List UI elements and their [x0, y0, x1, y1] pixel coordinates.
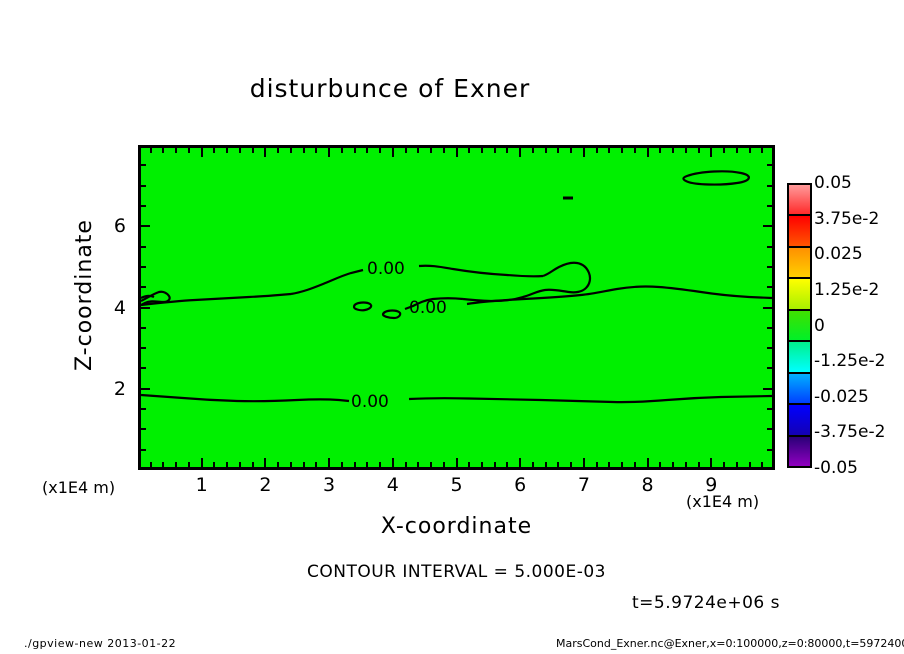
x-tick-minor-top [277, 148, 279, 153]
colorbar-tick-label: 0.05 [814, 173, 852, 193]
y-tick-major [141, 225, 150, 227]
x-tick-label: 4 [387, 474, 399, 496]
y-tick-minor [141, 347, 146, 349]
x-tick-minor-top [621, 148, 623, 153]
x-tick-minor-top [354, 148, 356, 153]
x-tick-minor-top [494, 148, 496, 153]
y-tick-minor-right [767, 266, 772, 268]
x-tick-minor-top [162, 148, 164, 153]
x-tick-label: 5 [450, 474, 462, 496]
x-tick-minor [162, 462, 164, 467]
x-tick-minor [736, 462, 738, 467]
x-tick-minor-top [290, 148, 292, 153]
x-tick-minor [290, 462, 292, 467]
x-tick-minor-top [596, 148, 598, 153]
x-tick-minor-top [379, 148, 381, 153]
x-tick-minor [188, 462, 190, 467]
x-tick-minor [443, 462, 445, 467]
colorbar-band [789, 279, 810, 310]
x-tick-minor [723, 462, 725, 467]
x-tick-minor [341, 462, 343, 467]
y-tick-major-right [763, 388, 772, 390]
x-tick-minor-top [150, 148, 152, 153]
x-tick-minor-top [226, 148, 228, 153]
colorbar-band [789, 311, 810, 342]
x-tick-major-top [710, 148, 712, 157]
x-tick-minor [417, 462, 419, 467]
x-tick-minor-top [698, 148, 700, 153]
x-tick-minor-top [685, 148, 687, 153]
x-tick-major [583, 458, 585, 467]
contour-plot-area: 0.00 0.00 0.00 [138, 145, 775, 470]
contour-label-0-lower: 0.00 [351, 392, 389, 412]
x-tick-minor-top [761, 148, 763, 153]
x-tick-minor-top [188, 148, 190, 153]
y-tick-label: 2 [114, 378, 126, 400]
x-tick-minor [608, 462, 610, 467]
y-tick-minor-right [767, 347, 772, 349]
x-tick-minor-top [252, 148, 254, 153]
x-axis-unit-left: (x1E4 m) [42, 478, 115, 497]
x-tick-minor-top [672, 148, 674, 153]
colorbar-band [789, 374, 810, 405]
footer-source-label: MarsCond_Exner.nc@Exner,x=0:100000,z=0:8… [556, 637, 904, 650]
colorbar-band [789, 342, 810, 373]
x-tick-minor [366, 462, 368, 467]
x-tick-minor [621, 462, 623, 467]
x-tick-minor [277, 462, 279, 467]
x-tick-minor-top [736, 148, 738, 153]
y-tick-minor-right [767, 408, 772, 410]
y-tick-minor [141, 246, 146, 248]
x-tick-minor-top [481, 148, 483, 153]
x-tick-minor [596, 462, 598, 467]
x-tick-label: 2 [259, 474, 271, 496]
colorbar-band [789, 216, 810, 247]
x-tick-minor-top [175, 148, 177, 153]
x-tick-major-top [519, 148, 521, 157]
x-tick-label: 8 [642, 474, 654, 496]
y-tick-minor [141, 449, 146, 451]
x-tick-minor [532, 462, 534, 467]
x-tick-minor-top [532, 148, 534, 153]
y-tick-minor-right [767, 428, 772, 430]
x-axis-unit-right: (x1E4 m) [686, 492, 759, 511]
x-tick-minor [506, 462, 508, 467]
x-tick-minor-top [659, 148, 661, 153]
x-tick-minor [315, 462, 317, 467]
y-tick-minor [141, 185, 146, 187]
x-tick-major [392, 458, 394, 467]
y-tick-minor-right [767, 185, 772, 187]
y-axis-title: Z-coordinate [72, 200, 102, 390]
x-tick-major-top [583, 148, 585, 157]
x-tick-minor [468, 462, 470, 467]
y-tick-major-right [763, 225, 772, 227]
y-tick-major-right [763, 307, 772, 309]
x-tick-minor-top [315, 148, 317, 153]
colorbar-tick-labels: 0.053.75e-20.0251.25e-20-1.25e-2-0.025-3… [814, 176, 904, 476]
x-tick-major-top [456, 148, 458, 157]
footer-command-label: ./gpview-new 2013-01-22 [24, 637, 176, 650]
x-tick-minor-top [570, 148, 572, 153]
colorbar-band [789, 185, 810, 216]
y-tick-minor [141, 286, 146, 288]
x-tick-minor [749, 462, 751, 467]
page-title: disturbunce of Exner [0, 74, 780, 103]
x-axis-title: X-coordinate [138, 514, 775, 539]
y-tick-minor [141, 164, 146, 166]
x-tick-label: 7 [578, 474, 590, 496]
x-tick-minor-top [366, 148, 368, 153]
x-tick-major [264, 458, 266, 467]
x-tick-minor [239, 462, 241, 467]
y-tick-minor [141, 327, 146, 329]
x-tick-minor [303, 462, 305, 467]
colorbar-tick-label: -1.25e-2 [814, 351, 885, 371]
x-tick-minor [379, 462, 381, 467]
x-tick-minor [570, 462, 572, 467]
x-tick-minor [557, 462, 559, 467]
x-tick-major-top [264, 148, 266, 157]
y-tick-major [141, 388, 150, 390]
contour-label-0-upper-left: 0.00 [367, 259, 405, 279]
x-tick-minor [659, 462, 661, 467]
y-tick-minor [141, 428, 146, 430]
x-tick-minor-top [468, 148, 470, 153]
x-tick-minor [672, 462, 674, 467]
x-tick-major-top [201, 148, 203, 157]
y-tick-minor-right [767, 327, 772, 329]
x-tick-minor [226, 462, 228, 467]
y-tick-major [141, 307, 150, 309]
x-tick-minor-top [417, 148, 419, 153]
colorbar-tick-label: 3.75e-2 [814, 209, 879, 229]
x-tick-minor [761, 462, 763, 467]
x-tick-minor [175, 462, 177, 467]
x-tick-label: 6 [514, 474, 526, 496]
x-tick-minor-top [608, 148, 610, 153]
x-tick-major [519, 458, 521, 467]
x-tick-major [710, 458, 712, 467]
x-tick-minor-top [557, 148, 559, 153]
x-tick-minor-top [430, 148, 432, 153]
colorbar-tick-label: -3.75e-2 [814, 422, 885, 442]
x-tick-minor [698, 462, 700, 467]
contour-lines: 0.00 0.00 0.00 [141, 148, 772, 467]
x-tick-minor [213, 462, 215, 467]
y-tick-minor [141, 367, 146, 369]
y-tick-minor [141, 266, 146, 268]
colorbar-tick-label: -0.05 [814, 458, 858, 478]
x-tick-minor [150, 462, 152, 467]
x-tick-minor [545, 462, 547, 467]
x-tick-minor-top [545, 148, 547, 153]
x-tick-minor-top [303, 148, 305, 153]
contour-fill-region [141, 148, 772, 467]
colorbar-tick-label: 0 [814, 316, 825, 336]
x-tick-minor-top [213, 148, 215, 153]
colorbar-tick-label: 1.25e-2 [814, 280, 879, 300]
x-tick-major [328, 458, 330, 467]
x-tick-minor [494, 462, 496, 467]
x-tick-major-top [328, 148, 330, 157]
contour-interval-label: CONTOUR INTERVAL = 5.000E-03 [138, 562, 775, 582]
y-tick-minor-right [767, 246, 772, 248]
colorbar-tick-label: 0.025 [814, 244, 863, 264]
x-tick-minor-top [405, 148, 407, 153]
x-tick-label: 1 [196, 474, 208, 496]
colorbar [787, 183, 812, 468]
x-tick-major-top [647, 148, 649, 157]
y-tick-minor-right [767, 367, 772, 369]
x-tick-minor-top [239, 148, 241, 153]
x-tick-minor [481, 462, 483, 467]
y-tick-minor [141, 408, 146, 410]
x-tick-minor-top [749, 148, 751, 153]
x-tick-minor [634, 462, 636, 467]
x-tick-major [201, 458, 203, 467]
colorbar-band [789, 248, 810, 279]
x-tick-minor-top [723, 148, 725, 153]
y-tick-minor-right [767, 449, 772, 451]
y-tick-minor-right [767, 164, 772, 166]
y-tick-minor-right [767, 205, 772, 207]
x-tick-minor [354, 462, 356, 467]
colorbar-tick-label: -0.025 [814, 387, 869, 407]
x-tick-minor [252, 462, 254, 467]
y-tick-label: 6 [114, 215, 126, 237]
x-tick-minor-top [341, 148, 343, 153]
x-tick-minor-top [443, 148, 445, 153]
x-tick-minor-top [506, 148, 508, 153]
x-tick-minor-top [634, 148, 636, 153]
y-tick-minor [141, 205, 146, 207]
x-tick-major-top [392, 148, 394, 157]
x-tick-minor [405, 462, 407, 467]
x-tick-major [456, 458, 458, 467]
contour-label-0-upper-right: 0.00 [409, 298, 447, 318]
y-tick-minor-right [767, 286, 772, 288]
x-tick-label: 3 [323, 474, 335, 496]
x-tick-major [647, 458, 649, 467]
x-tick-minor [685, 462, 687, 467]
time-annotation: t=5.9724e+06 s [632, 593, 780, 613]
colorbar-band [789, 437, 810, 466]
colorbar-band [789, 405, 810, 436]
x-tick-minor [430, 462, 432, 467]
y-tick-label: 4 [114, 297, 126, 319]
